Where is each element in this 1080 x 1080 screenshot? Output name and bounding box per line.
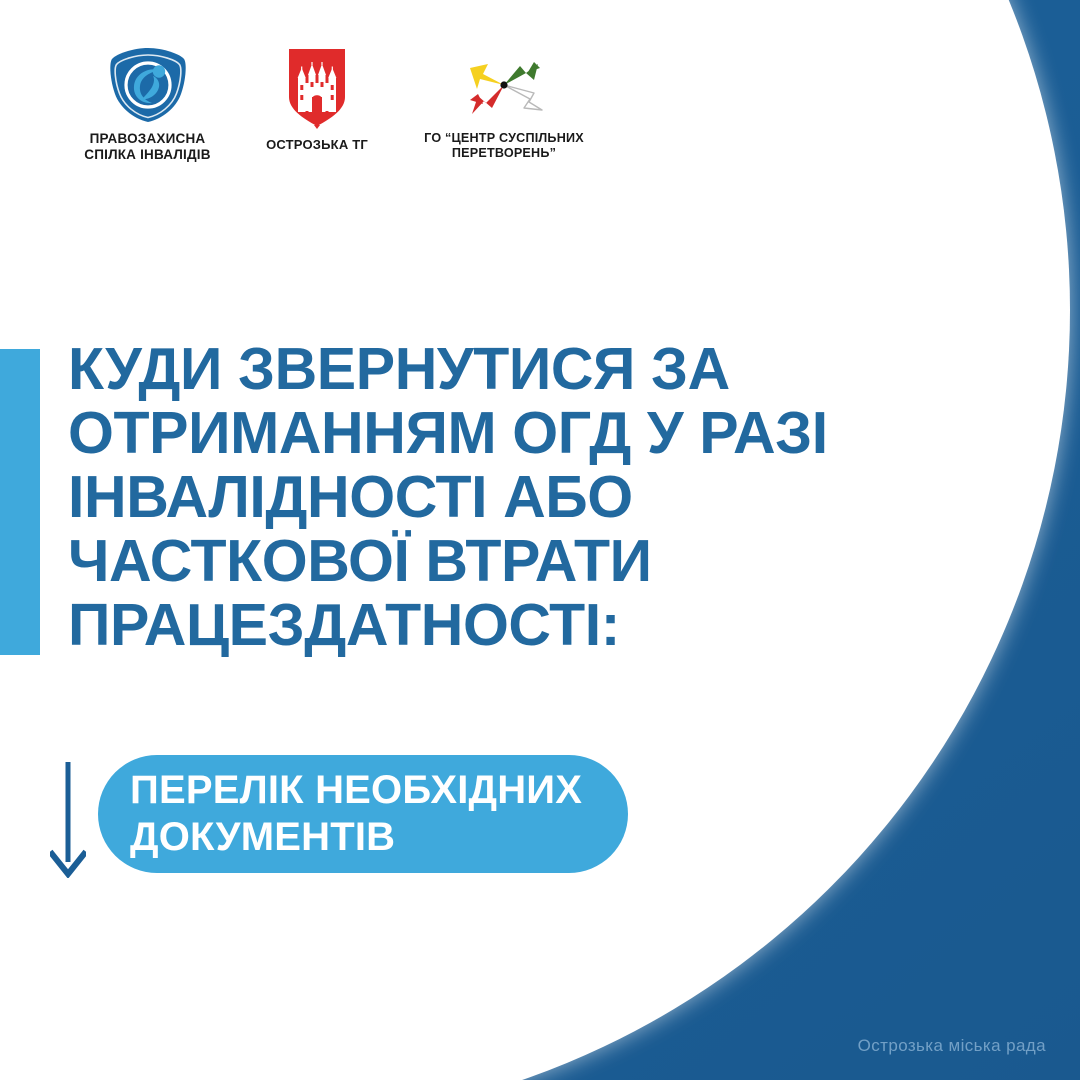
footer-watermark: Острозька міська рада xyxy=(858,1036,1046,1056)
logo-social-transformations: ГО “ЦЕНТР СУСПІЛЬНИХ ПЕРЕТВОРЕНЬ” xyxy=(399,46,609,162)
arrow-down-icon xyxy=(50,762,86,878)
cta-line-1: ПЕРЕЛІК НЕОБХІДНИХ xyxy=(130,767,596,814)
headline-line-2: ОТРИМАННЯМ ОГД У РАЗІ xyxy=(68,401,908,465)
headline-line-3: ІНВАЛІДНОСТІ АБО xyxy=(68,465,908,529)
headline-line-5: ПРАЦЕЗДАТНОСТІ: xyxy=(68,593,908,657)
left-accent-bar xyxy=(0,349,40,655)
headline-line-1: КУДИ ЗВЕРНУТИСЯ ЗА xyxy=(68,337,908,401)
ostroh-coat-of-arms-icon xyxy=(286,46,348,130)
logo-caption-ostroh: ОСТРОЗЬКА ТГ xyxy=(266,137,368,153)
poster-canvas: ПРАВОЗАХИСНА СПІЛКА ІНВАЛІДІВ xyxy=(0,0,1080,1080)
headline: КУДИ ЗВЕРНУТИСЯ ЗА ОТРИМАННЯМ ОГД У РАЗІ… xyxy=(68,337,908,657)
disability-rights-shield-icon xyxy=(108,46,188,124)
partner-logos-row: ПРАВОЗАХИСНА СПІЛКА ІНВАЛІДІВ xyxy=(60,46,660,181)
cta-line-2: ДОКУМЕНТІВ xyxy=(130,814,596,861)
logo-caption-social-transformations: ГО “ЦЕНТР СУСПІЛЬНИХ ПЕРЕТВОРЕНЬ” xyxy=(424,131,584,162)
logo-disability-rights: ПРАВОЗАХИСНА СПІЛКА ІНВАЛІДІВ xyxy=(60,46,235,164)
cta-documents-list-button[interactable]: ПЕРЕЛІК НЕОБХІДНИХ ДОКУМЕНТІВ xyxy=(98,755,628,873)
headline-line-4: ЧАСТКОВОЇ ВТРАТИ xyxy=(68,529,908,593)
logo-caption-disability-rights: ПРАВОЗАХИСНА СПІЛКА ІНВАЛІДІВ xyxy=(84,131,210,164)
social-transformations-arrows-icon xyxy=(450,46,558,124)
logo-ostroh-hromada: ОСТРОЗЬКА ТГ xyxy=(247,46,387,153)
